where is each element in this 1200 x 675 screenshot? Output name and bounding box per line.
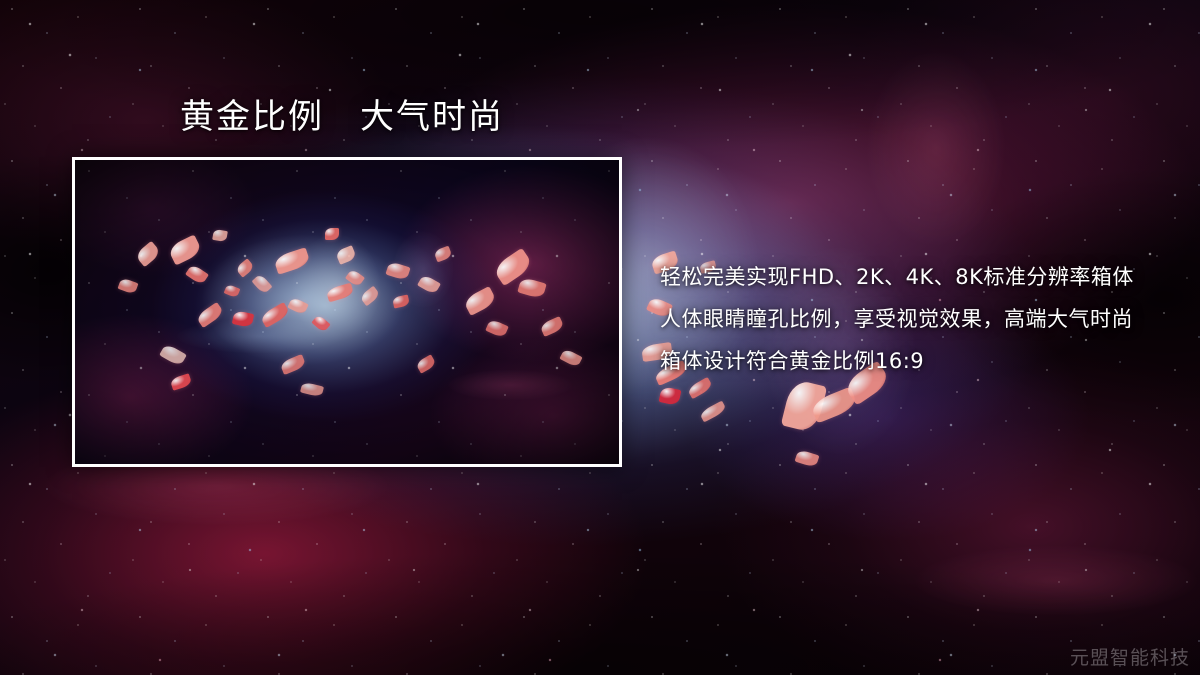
body-line-2: 人体眼睛瞳孔比例，享受视觉效果，高端大气时尚 — [660, 298, 1160, 340]
petal-shape — [809, 387, 858, 424]
watermark: 元盟智能科技 — [1070, 643, 1190, 670]
photo-frame — [72, 157, 622, 467]
petal-shape — [699, 401, 727, 423]
petal-shape — [659, 386, 682, 406]
slide-canvas: 黄金比例 大气时尚 轻松完美实现FHD、2K、4K、8K标准分辨率箱体 人体眼睛… — [0, 0, 1200, 675]
page-title: 黄金比例 大气时尚 — [180, 99, 504, 136]
petal-shape — [781, 378, 828, 433]
photo-image — [75, 160, 619, 464]
body-copy: 轻松完美实现FHD、2K、4K、8K标准分辨率箱体 人体眼睛瞳孔比例，享受视觉效… — [660, 256, 1160, 382]
photo-vignette — [75, 160, 619, 464]
petal-shape — [795, 449, 820, 468]
body-line-1: 轻松完美实现FHD、2K、4K、8K标准分辨率箱体 — [660, 256, 1160, 298]
body-line-3: 箱体设计符合黄金比例16:9 — [660, 340, 1160, 382]
